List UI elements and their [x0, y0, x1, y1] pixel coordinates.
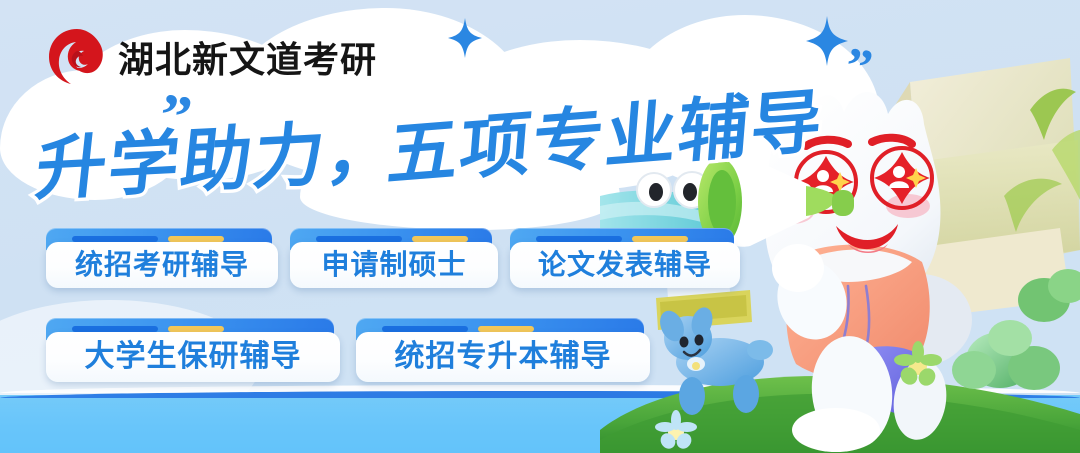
- brand-logo[interactable]: 湖北新文道考研: [46, 26, 377, 88]
- service-button-label: 统招考研辅导: [75, 251, 249, 279]
- sparkle-star-icon: [448, 18, 482, 58]
- pill-card[interactable]: 统招专升本辅导: [356, 332, 650, 382]
- service-button-label: 统招专升本辅导: [395, 342, 612, 372]
- pill-card[interactable]: 统招考研辅导: [46, 242, 278, 288]
- service-button-label: 大学生保研辅导: [85, 342, 302, 372]
- service-button-row-2: 大学生保研辅导 统招专升本辅导: [46, 318, 650, 382]
- service-button-row-1: 统招考研辅导 申请制硕士 论文发表辅导: [46, 228, 740, 288]
- headline-line-1: 升学助力，: [31, 95, 404, 215]
- phoenix-emblem-icon: [46, 26, 108, 88]
- service-button-shenqingzhi-shuoshi[interactable]: 申请制硕士: [290, 228, 498, 288]
- mascot-scene: [600, 0, 1080, 453]
- service-button-lunwen-fabiao[interactable]: 论文发表辅导: [510, 228, 740, 288]
- promo-banner: ” ” 湖北新文道考研 升学助力， 五项专业辅导 统招考研辅导: [0, 0, 1080, 453]
- pill-card[interactable]: 大学生保研辅导: [46, 332, 340, 382]
- pill-card[interactable]: 申请制硕士: [290, 242, 498, 288]
- brand-logo-text: 湖北新文道考研: [118, 31, 377, 83]
- service-button-daxuesheng-baoyan[interactable]: 大学生保研辅导: [46, 318, 340, 382]
- pill-card[interactable]: 论文发表辅导: [510, 242, 740, 288]
- service-button-tongzhao-kaoyan[interactable]: 统招考研辅导: [46, 228, 278, 288]
- service-button-label: 申请制硕士: [321, 251, 466, 279]
- service-button-label: 论文发表辅导: [538, 251, 712, 279]
- service-button-tongzhao-zhuanshengben[interactable]: 统招专升本辅导: [356, 318, 650, 382]
